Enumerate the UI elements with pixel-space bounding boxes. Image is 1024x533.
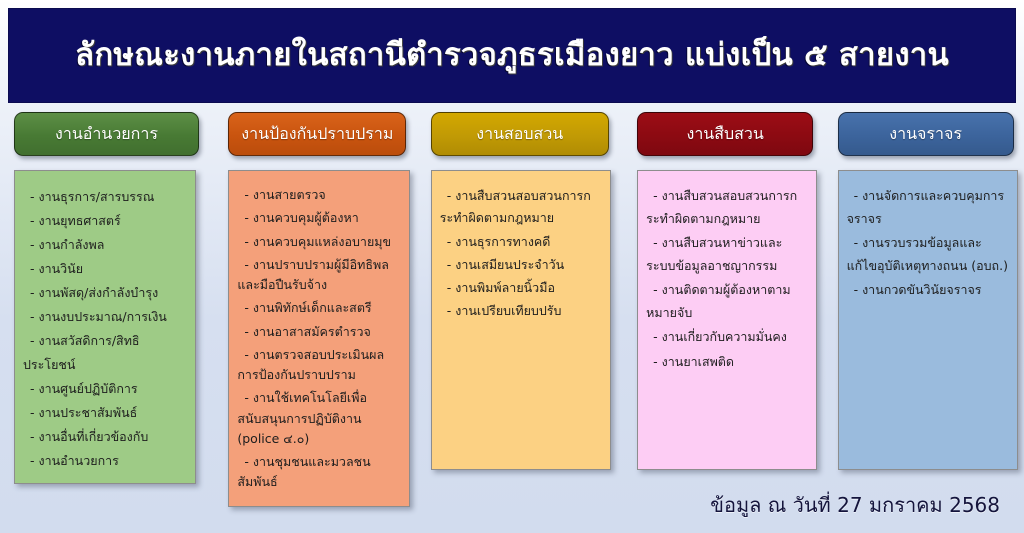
column-header-charachon[interactable]: งานจราจร bbox=[838, 112, 1014, 156]
column-charachon: งานจราจร - งานจัดการและควบคุมการจราจร - … bbox=[838, 112, 1024, 470]
column-header-suepsuan[interactable]: งานสืบสวน bbox=[637, 112, 813, 156]
column-header-pongkan-prappram[interactable]: งานป้องกันปราบปราม bbox=[228, 112, 406, 156]
column-body-amnuaykan: - งานธุรการ/สารบรรณ - งานยุทธศาสตร์ - งา… bbox=[14, 170, 196, 484]
list-item: - งานควบคุมผู้ต้องหา bbox=[237, 208, 401, 228]
list-item: - งานอื่นที่เกี่ยวข้องกับ bbox=[23, 425, 187, 449]
column-body-charachon: - งานจัดการและควบคุมการจราจร - งานรวบรวม… bbox=[838, 170, 1018, 470]
columns-container: งานอำนวยการ - งานธุรการ/สารบรรณ - งานยุท… bbox=[0, 112, 1024, 487]
list-item: - งานชุมชนและมวลชนสัมพันธ์ bbox=[237, 452, 401, 493]
slide-canvas: ลักษณะงานภายในสถานีตำรวจภูธรเมืองยาว แบ่… bbox=[0, 0, 1024, 533]
list-item: - งานธุรการทางคดี bbox=[440, 231, 602, 253]
column-body-pongkan-prappram: - งานสายตรวจ - งานควบคุมผู้ต้องหา - งานค… bbox=[228, 170, 410, 507]
title-banner: ลักษณะงานภายในสถานีตำรวจภูธรเมืองยาว แบ่… bbox=[8, 8, 1016, 103]
list-item: - งานรวบรวมข้อมูลและแก้ไขอุบัติเหตุทางถน… bbox=[847, 232, 1009, 277]
list-item: - งานพัสดุ/ส่งกำลังบำรุง bbox=[23, 281, 187, 305]
bullet-list-pongkan-prappram: - งานสายตรวจ - งานควบคุมผู้ต้องหา - งานค… bbox=[237, 185, 401, 493]
bullet-list-suepsuan: - งานสืบสวนสอบสวนการกระทำผิดตามกฎหมาย - … bbox=[646, 185, 808, 373]
bullet-list-sopsuan: - งานสืบสวนสอบสวนการกระทำผิดตามกฎหมาย - … bbox=[440, 185, 602, 323]
list-item: - งานประชาสัมพันธ์ bbox=[23, 401, 187, 425]
list-item: - งานสืบสวนสอบสวนการกระทำผิดตามกฎหมาย bbox=[440, 185, 602, 230]
list-item: - งานยาเสพติด bbox=[646, 351, 808, 374]
list-item: - งานกวดขันวินัยจราจร bbox=[847, 279, 1009, 302]
list-item: - งานเกี่ยวกับความมั่นคง bbox=[646, 326, 808, 349]
column-body-suepsuan: - งานสืบสวนสอบสวนการกระทำผิดตามกฎหมาย - … bbox=[637, 170, 817, 470]
list-item: - งานสืบสวนหาข่าวและระบบข้อมูลอาชญากรรม bbox=[646, 232, 808, 277]
list-item: - งานกำลังพล bbox=[23, 233, 187, 257]
list-item: - งานพิมพ์ลายนิ้วมือ bbox=[440, 277, 602, 299]
list-item: - งานงบประมาณ/การเงิน bbox=[23, 305, 187, 329]
list-item: - งานตรวจสอบประเมินผลการป้องกันปราบปราม bbox=[237, 345, 401, 386]
list-item: - งานพิทักษ์เด็กและสตรี bbox=[237, 298, 401, 318]
list-item: - งานสวัสดิการ/สิทธิประโยชน์ bbox=[23, 329, 187, 377]
list-item: - งานธุรการ/สารบรรณ bbox=[23, 185, 187, 209]
column-header-amnuaykan[interactable]: งานอำนวยการ bbox=[14, 112, 199, 156]
column-suepsuan: งานสืบสวน - งานสืบสวนสอบสวนการกระทำผิดตา… bbox=[637, 112, 823, 470]
list-item: - งานสายตรวจ bbox=[237, 185, 401, 205]
column-body-sopsuan: - งานสืบสวนสอบสวนการกระทำผิดตามกฎหมาย - … bbox=[431, 170, 611, 470]
list-item: - งานวินัย bbox=[23, 257, 187, 281]
list-item: - งานอาสาสมัครตำรวจ bbox=[237, 322, 401, 342]
list-item: - งานปราบปรามผู้มีอิทธิพลและมือปืนรับจ้า… bbox=[237, 255, 401, 296]
column-sopsuan: งานสอบสวน - งานสืบสวนสอบสวนการกระทำผิดตา… bbox=[431, 112, 620, 470]
column-header-sopsuan[interactable]: งานสอบสวน bbox=[431, 112, 609, 156]
list-item: - งานเสมียนประจำวัน bbox=[440, 254, 602, 276]
list-item: - งานจัดการและควบคุมการจราจร bbox=[847, 185, 1009, 230]
bullet-list-amnuaykan: - งานธุรการ/สารบรรณ - งานยุทธศาสตร์ - งา… bbox=[23, 185, 187, 473]
list-item: - งานใช้เทคโนโลยีเพื่อสนับสนุนการปฏิบัติ… bbox=[237, 388, 401, 449]
bullet-list-charachon: - งานจัดการและควบคุมการจราจร - งานรวบรวม… bbox=[847, 185, 1009, 302]
list-item: - งานศูนย์ปฏิบัติการ bbox=[23, 377, 187, 401]
list-item: - งานควบคุมแหล่งอบายมุข bbox=[237, 232, 401, 252]
list-item: - งานสืบสวนสอบสวนการกระทำผิดตามกฎหมาย bbox=[646, 185, 808, 230]
list-item: - งานยุทธศาสตร์ bbox=[23, 209, 187, 233]
list-item: - งานอำนวยการ bbox=[23, 449, 187, 473]
column-amnuaykan: งานอำนวยการ - งานธุรการ/สารบรรณ - งานยุท… bbox=[14, 112, 217, 484]
footer-date: ข้อมูล ณ วันที่ 27 มกราคม 2568 bbox=[710, 489, 1000, 521]
list-item: - งานเปรียบเทียบปรับ bbox=[440, 300, 602, 322]
list-item: - งานติดตามผู้ต้องหาตามหมายจับ bbox=[646, 279, 808, 324]
page-title: ลักษณะงานภายในสถานีตำรวจภูธรเมืองยาว แบ่… bbox=[75, 38, 949, 72]
column-pongkan-prappram: งานป้องกันปราบปราม - งานสายตรวจ - งานควบ… bbox=[228, 112, 419, 507]
